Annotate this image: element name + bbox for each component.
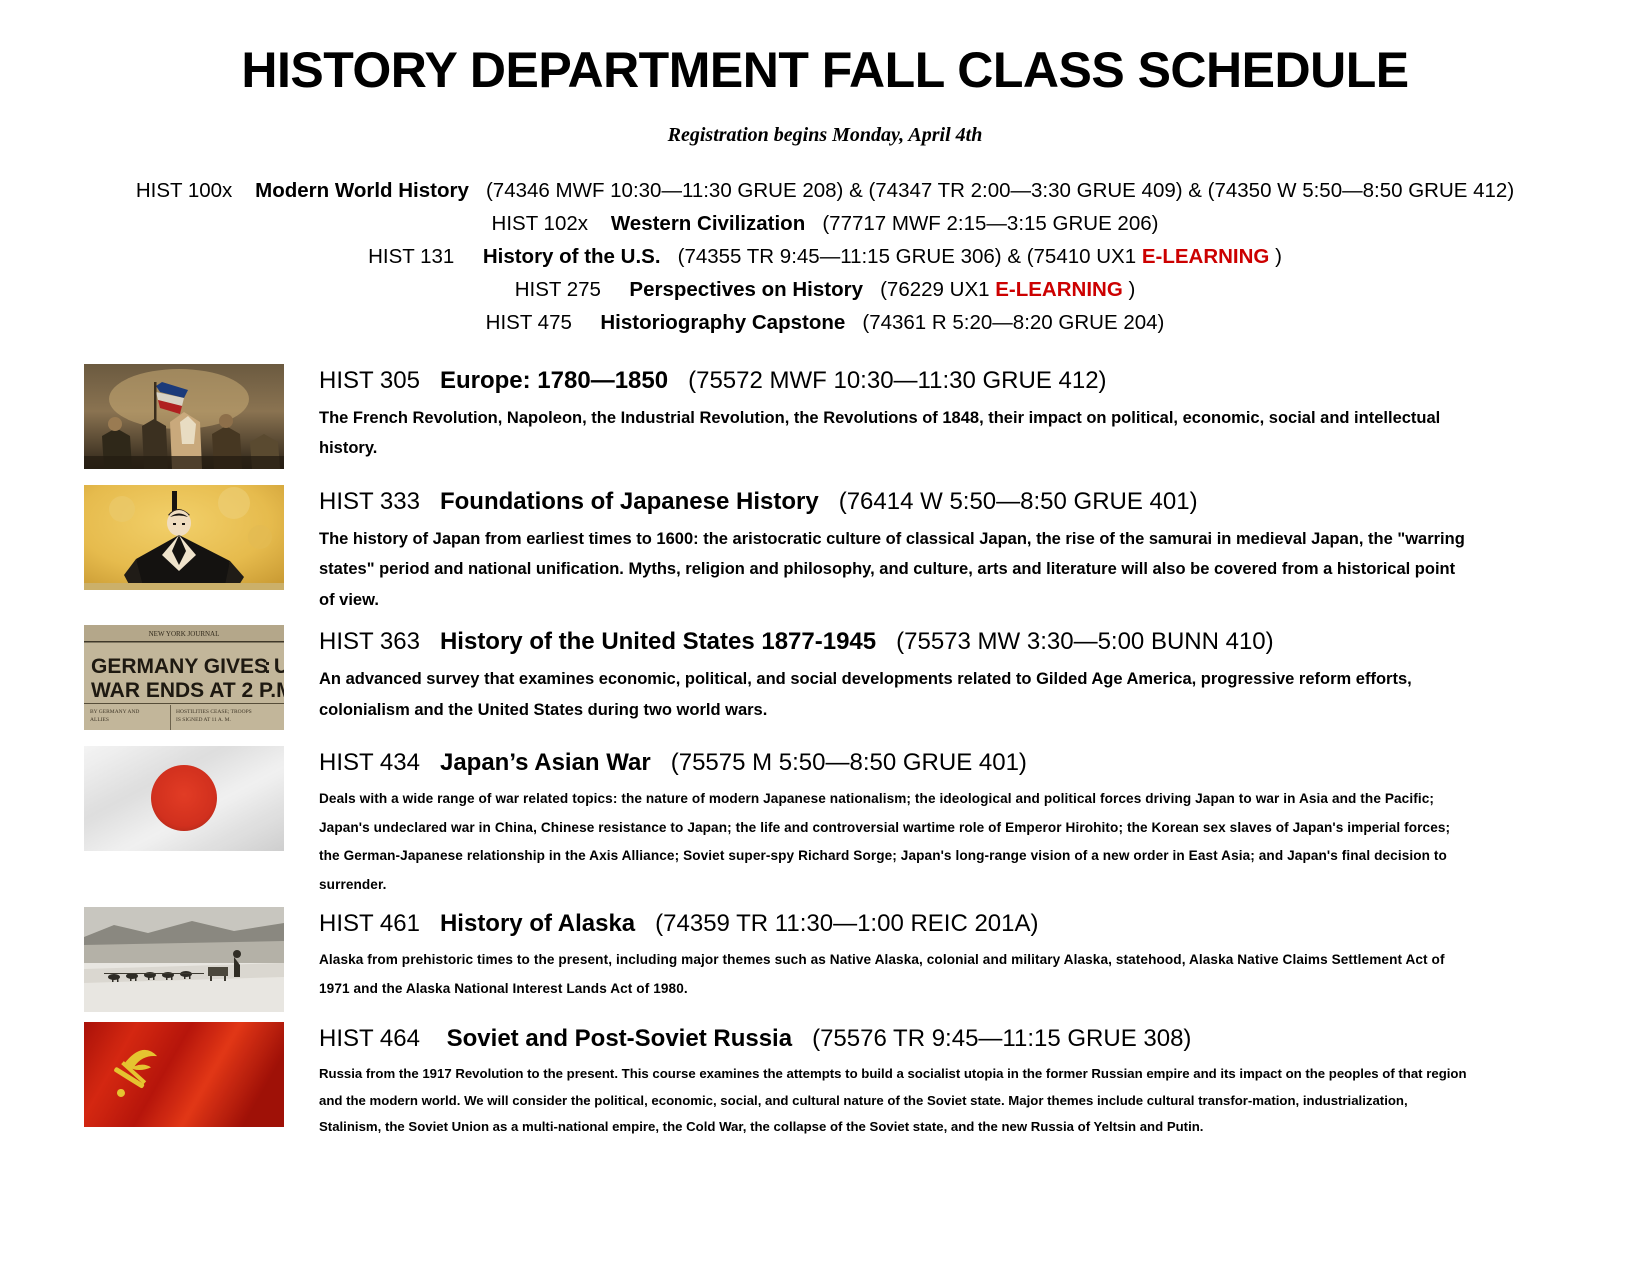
course-meta-before: (74355 TR 9:45—11:15 GRUE 306) & (75410 … — [678, 245, 1142, 268]
liberty-leading-the-people-painting — [84, 364, 284, 469]
course-text: HIST 363 History of the United States 18… — [319, 625, 1650, 725]
course-code: HIST 100x — [136, 179, 232, 202]
germany-gives-up-newspaper-headline: NEW YORK JOURNAL GERMANY GIVES UP : WAR … — [84, 625, 284, 730]
course-name: Western Civilization — [611, 212, 805, 235]
course-entry: NEW YORK JOURNAL GERMANY GIVES UP : WAR … — [0, 625, 1650, 730]
quick-course-row: HIST 131 History of the U.S. (74355 TR 9… — [0, 240, 1650, 273]
course-meta: (75576 TR 9:45—11:15 GRUE 308) — [812, 1025, 1191, 1052]
course-description: An advanced survey that examines economi… — [319, 664, 1469, 725]
quick-course-row: HIST 475 Historiography Capstone (74361 … — [0, 306, 1650, 339]
registration-notice: Registration begins Monday, April 4th — [0, 97, 1650, 147]
quick-course-row: HIST 100x Modern World History (74346 MW… — [0, 174, 1650, 207]
course-name: History of the U.S. — [483, 245, 661, 268]
course-code: HIST 461 — [319, 910, 420, 937]
course-code: HIST 333 — [319, 488, 420, 515]
course-text: HIST 333 Foundations of Japanese History… — [319, 485, 1650, 616]
elearning-badge: E-LEARNING — [995, 278, 1123, 301]
course-entry: HIST 464 Soviet and Post-Soviet Russia (… — [0, 1022, 1650, 1140]
course-description: Russia from the 1917 Revolution to the p… — [319, 1061, 1469, 1140]
course-meta-after: ) — [1275, 245, 1282, 268]
course-code: HIST 363 — [319, 628, 420, 655]
quick-course-row: HIST 102x Western Civilization (77717 MW… — [0, 207, 1650, 240]
course-heading: HIST 434 Japan’s Asian War (75575 M 5:50… — [319, 748, 1650, 778]
samurai-scroll-painting — [84, 485, 284, 590]
course-text: HIST 434 Japan’s Asian War (75575 M 5:50… — [319, 746, 1650, 899]
course-heading: HIST 461 History of Alaska (74359 TR 11:… — [319, 909, 1650, 939]
quick-course-row: HIST 275 Perspectives on History (76229 … — [0, 273, 1650, 306]
course-name: Europe: 1780—1850 — [440, 367, 668, 394]
course-code: HIST 102x — [492, 212, 588, 235]
course-heading: HIST 363 History of the United States 18… — [319, 627, 1650, 657]
course-code: HIST 131 — [368, 245, 454, 268]
course-code: HIST 275 — [515, 278, 601, 301]
course-meta: (74361 R 5:20—8:20 GRUE 204) — [862, 311, 1164, 334]
course-meta: (76414 W 5:50—8:50 GRUE 401) — [839, 488, 1198, 515]
course-name: Soviet and Post-Soviet Russia — [447, 1025, 792, 1052]
course-name: Japan’s Asian War — [440, 749, 651, 776]
soviet-union-hammer-sickle-flag — [84, 1022, 284, 1127]
course-meta: (74346 MWF 10:30—11:30 GRUE 208) & (7434… — [486, 179, 1514, 202]
course-entry: HIST 305 Europe: 1780—1850 (75572 MWF 10… — [0, 364, 1650, 469]
course-text: HIST 461 History of Alaska (74359 TR 11:… — [319, 907, 1650, 1003]
course-name: History of Alaska — [440, 910, 635, 937]
course-name: Modern World History — [255, 179, 469, 202]
course-code: HIST 305 — [319, 367, 420, 394]
page-title: HISTORY DEPARTMENT FALL CLASS SCHEDULE — [0, 0, 1650, 97]
course-description: Alaska from prehistoric times to the pre… — [319, 946, 1469, 1003]
course-meta: (74359 TR 11:30—1:00 REIC 201A) — [655, 910, 1038, 937]
course-code: HIST 475 — [486, 311, 572, 334]
course-meta: (75572 MWF 10:30—11:30 GRUE 412) — [688, 367, 1106, 394]
course-text: HIST 464 Soviet and Post-Soviet Russia (… — [319, 1022, 1650, 1140]
alaska-dog-sled-historic-photo — [84, 907, 284, 1012]
course-name: Foundations of Japanese History — [440, 488, 819, 515]
course-name: Historiography Capstone — [600, 311, 845, 334]
course-entry: HIST 461 History of Alaska (74359 TR 11:… — [0, 907, 1650, 1012]
detailed-course-list: HIST 305 Europe: 1780—1850 (75572 MWF 10… — [0, 364, 1650, 1141]
course-name: Perspectives on History — [629, 278, 863, 301]
course-text: HIST 305 Europe: 1780—1850 (75572 MWF 10… — [319, 364, 1650, 464]
course-heading: HIST 464 Soviet and Post-Soviet Russia (… — [319, 1024, 1650, 1054]
course-entry: HIST 434 Japan’s Asian War (75575 M 5:50… — [0, 746, 1650, 899]
schedule-flyer-page: HISTORY DEPARTMENT FALL CLASS SCHEDULE R… — [0, 0, 1650, 1275]
course-name: History of the United States 1877-1945 — [440, 628, 876, 655]
course-meta-after: ) — [1128, 278, 1135, 301]
course-meta: (75575 M 5:50—8:50 GRUE 401) — [671, 749, 1027, 776]
course-heading: HIST 333 Foundations of Japanese History… — [319, 487, 1650, 517]
course-meta: (77717 MWF 2:15—3:15 GRUE 206) — [822, 212, 1158, 235]
course-heading: HIST 305 Europe: 1780—1850 (75572 MWF 10… — [319, 366, 1650, 396]
elearning-badge: E-LEARNING — [1142, 245, 1270, 268]
course-code: HIST 464 — [319, 1025, 420, 1052]
course-description: The French Revolution, Napoleon, the Ind… — [319, 403, 1469, 464]
course-entry: HIST 333 Foundations of Japanese History… — [0, 485, 1650, 616]
quick-course-list: HIST 100x Modern World History (74346 MW… — [0, 174, 1650, 340]
course-code: HIST 434 — [319, 749, 420, 776]
course-description: The history of Japan from earliest times… — [319, 524, 1469, 616]
japan-flag-rising-sun — [84, 746, 284, 851]
course-description: Deals with a wide range of war related t… — [319, 785, 1469, 899]
course-meta: (75573 MW 3:30—5:00 BUNN 410) — [896, 628, 1274, 655]
course-meta-before: (76229 UX1 — [880, 278, 995, 301]
